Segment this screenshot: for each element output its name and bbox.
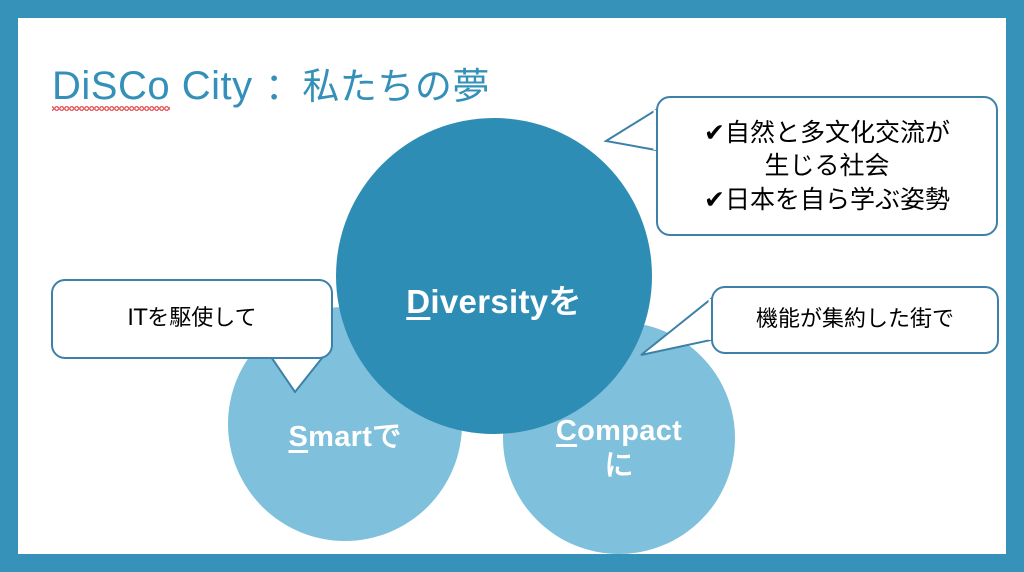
page-title: DiSCo City ：私たちの夢 (52, 56, 490, 110)
callout-top-line3-text: 日本を自ら学ぶ姿勢 (725, 185, 950, 214)
title-word-city: City (170, 64, 253, 108)
circle-smart-word: mart (308, 421, 372, 453)
callout-left-text: ITを駆使して (127, 305, 256, 333)
circle-smart-particle: で (372, 419, 401, 453)
circle-compact-word: ompact (577, 415, 682, 447)
callout-top-line1-text: 自然と多文化交流が (725, 118, 950, 147)
circle-compact-particle: に (556, 449, 682, 483)
check-icon: ✔ (704, 185, 725, 214)
spellcheck-squiggle-icon (52, 106, 170, 111)
callout-top-text: ✔自然と多文化交流が 生じる社会 ✔日本を自ら学ぶ姿勢 (704, 116, 950, 217)
callout-top-line3: ✔日本を自ら学ぶ姿勢 (704, 183, 950, 217)
callout-top[interactable]: ✔自然と多文化交流が 生じる社会 ✔日本を自ら学ぶ姿勢 (656, 96, 998, 236)
circle-diversity-word: iversity (430, 283, 548, 320)
circle-compact-line1: Compact (556, 415, 682, 449)
slide-canvas: DiSCo City ：私たちの夢 Diversityを Smartで Comp… (18, 18, 1006, 554)
circle-smart-initial: S (288, 421, 308, 453)
callout-top-line2-text: 生じる社会 (704, 149, 950, 183)
circle-diversity-initial: D (406, 283, 430, 320)
title-japanese: 私たちの夢 (302, 65, 490, 108)
title-word-disco: DiSCo (52, 64, 170, 108)
title-separator: ： (253, 65, 303, 108)
callout-right[interactable]: 機能が集約した街で (711, 286, 999, 354)
check-icon: ✔ (704, 118, 725, 147)
circle-compact-label: Compact に (556, 415, 682, 482)
callout-right-text: 機能が集約した街で (756, 306, 954, 334)
title-misspelled-word: DiSCo (52, 64, 170, 109)
slide-frame: DiSCo City ：私たちの夢 Diversityを Smartで Comp… (0, 0, 1024, 572)
circle-diversity-particle: を (548, 282, 581, 321)
circle-compact-initial: C (556, 415, 577, 447)
callout-top-line1: ✔自然と多文化交流が (704, 116, 950, 150)
circle-diversity[interactable]: Diversityを (336, 118, 652, 434)
callout-left[interactable]: ITを駆使して (51, 279, 333, 359)
circle-smart-label: Smartで (288, 420, 401, 455)
circle-diversity-label: Diversityを (406, 283, 581, 321)
